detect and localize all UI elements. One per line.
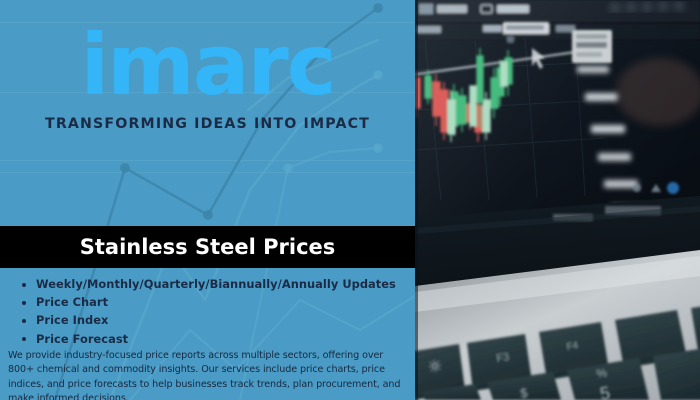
list-item: Price Chart (14, 295, 409, 310)
list-item: Weekly/Monthly/Quarterly/Biannually/Annu… (14, 277, 409, 292)
band-3 (0, 160, 415, 161)
list-item: Price Forecast (14, 332, 409, 347)
imarc-logo: imarc TRANSFORMING IDEAS INTO IMPACT (0, 26, 415, 132)
logo-wordmark-text: imarc (80, 26, 334, 104)
description-text: We provide industry-focused price report… (8, 349, 408, 400)
laptop-trading-chart-photo: F3 F4 $ % 5 (415, 0, 700, 400)
feature-list: Weekly/Monthly/Quarterly/Biannually/Annu… (14, 277, 409, 350)
screen-glare (415, 0, 700, 230)
band-4 (0, 172, 415, 173)
left-content-panel: imarc TRANSFORMING IDEAS INTO IMPACT Sta… (0, 0, 415, 400)
title-bar: Stainless Steel Prices (0, 226, 415, 268)
svg-text:F3: F3 (496, 351, 511, 365)
logo-tagline: TRANSFORMING IDEAS INTO IMPACT (0, 116, 415, 132)
key-6[interactable] (653, 348, 700, 400)
photo-left-edge (415, 0, 418, 400)
logo-mark: imarc (80, 26, 334, 104)
price-report-banner: imarc TRANSFORMING IDEAS INTO IMPACT Sta… (0, 0, 700, 400)
svg-text:F4: F4 (566, 340, 580, 353)
photo-content: F3 F4 $ % 5 (415, 0, 700, 400)
list-item: Price Index (14, 313, 409, 328)
page-title: Stainless Steel Prices (80, 235, 336, 259)
